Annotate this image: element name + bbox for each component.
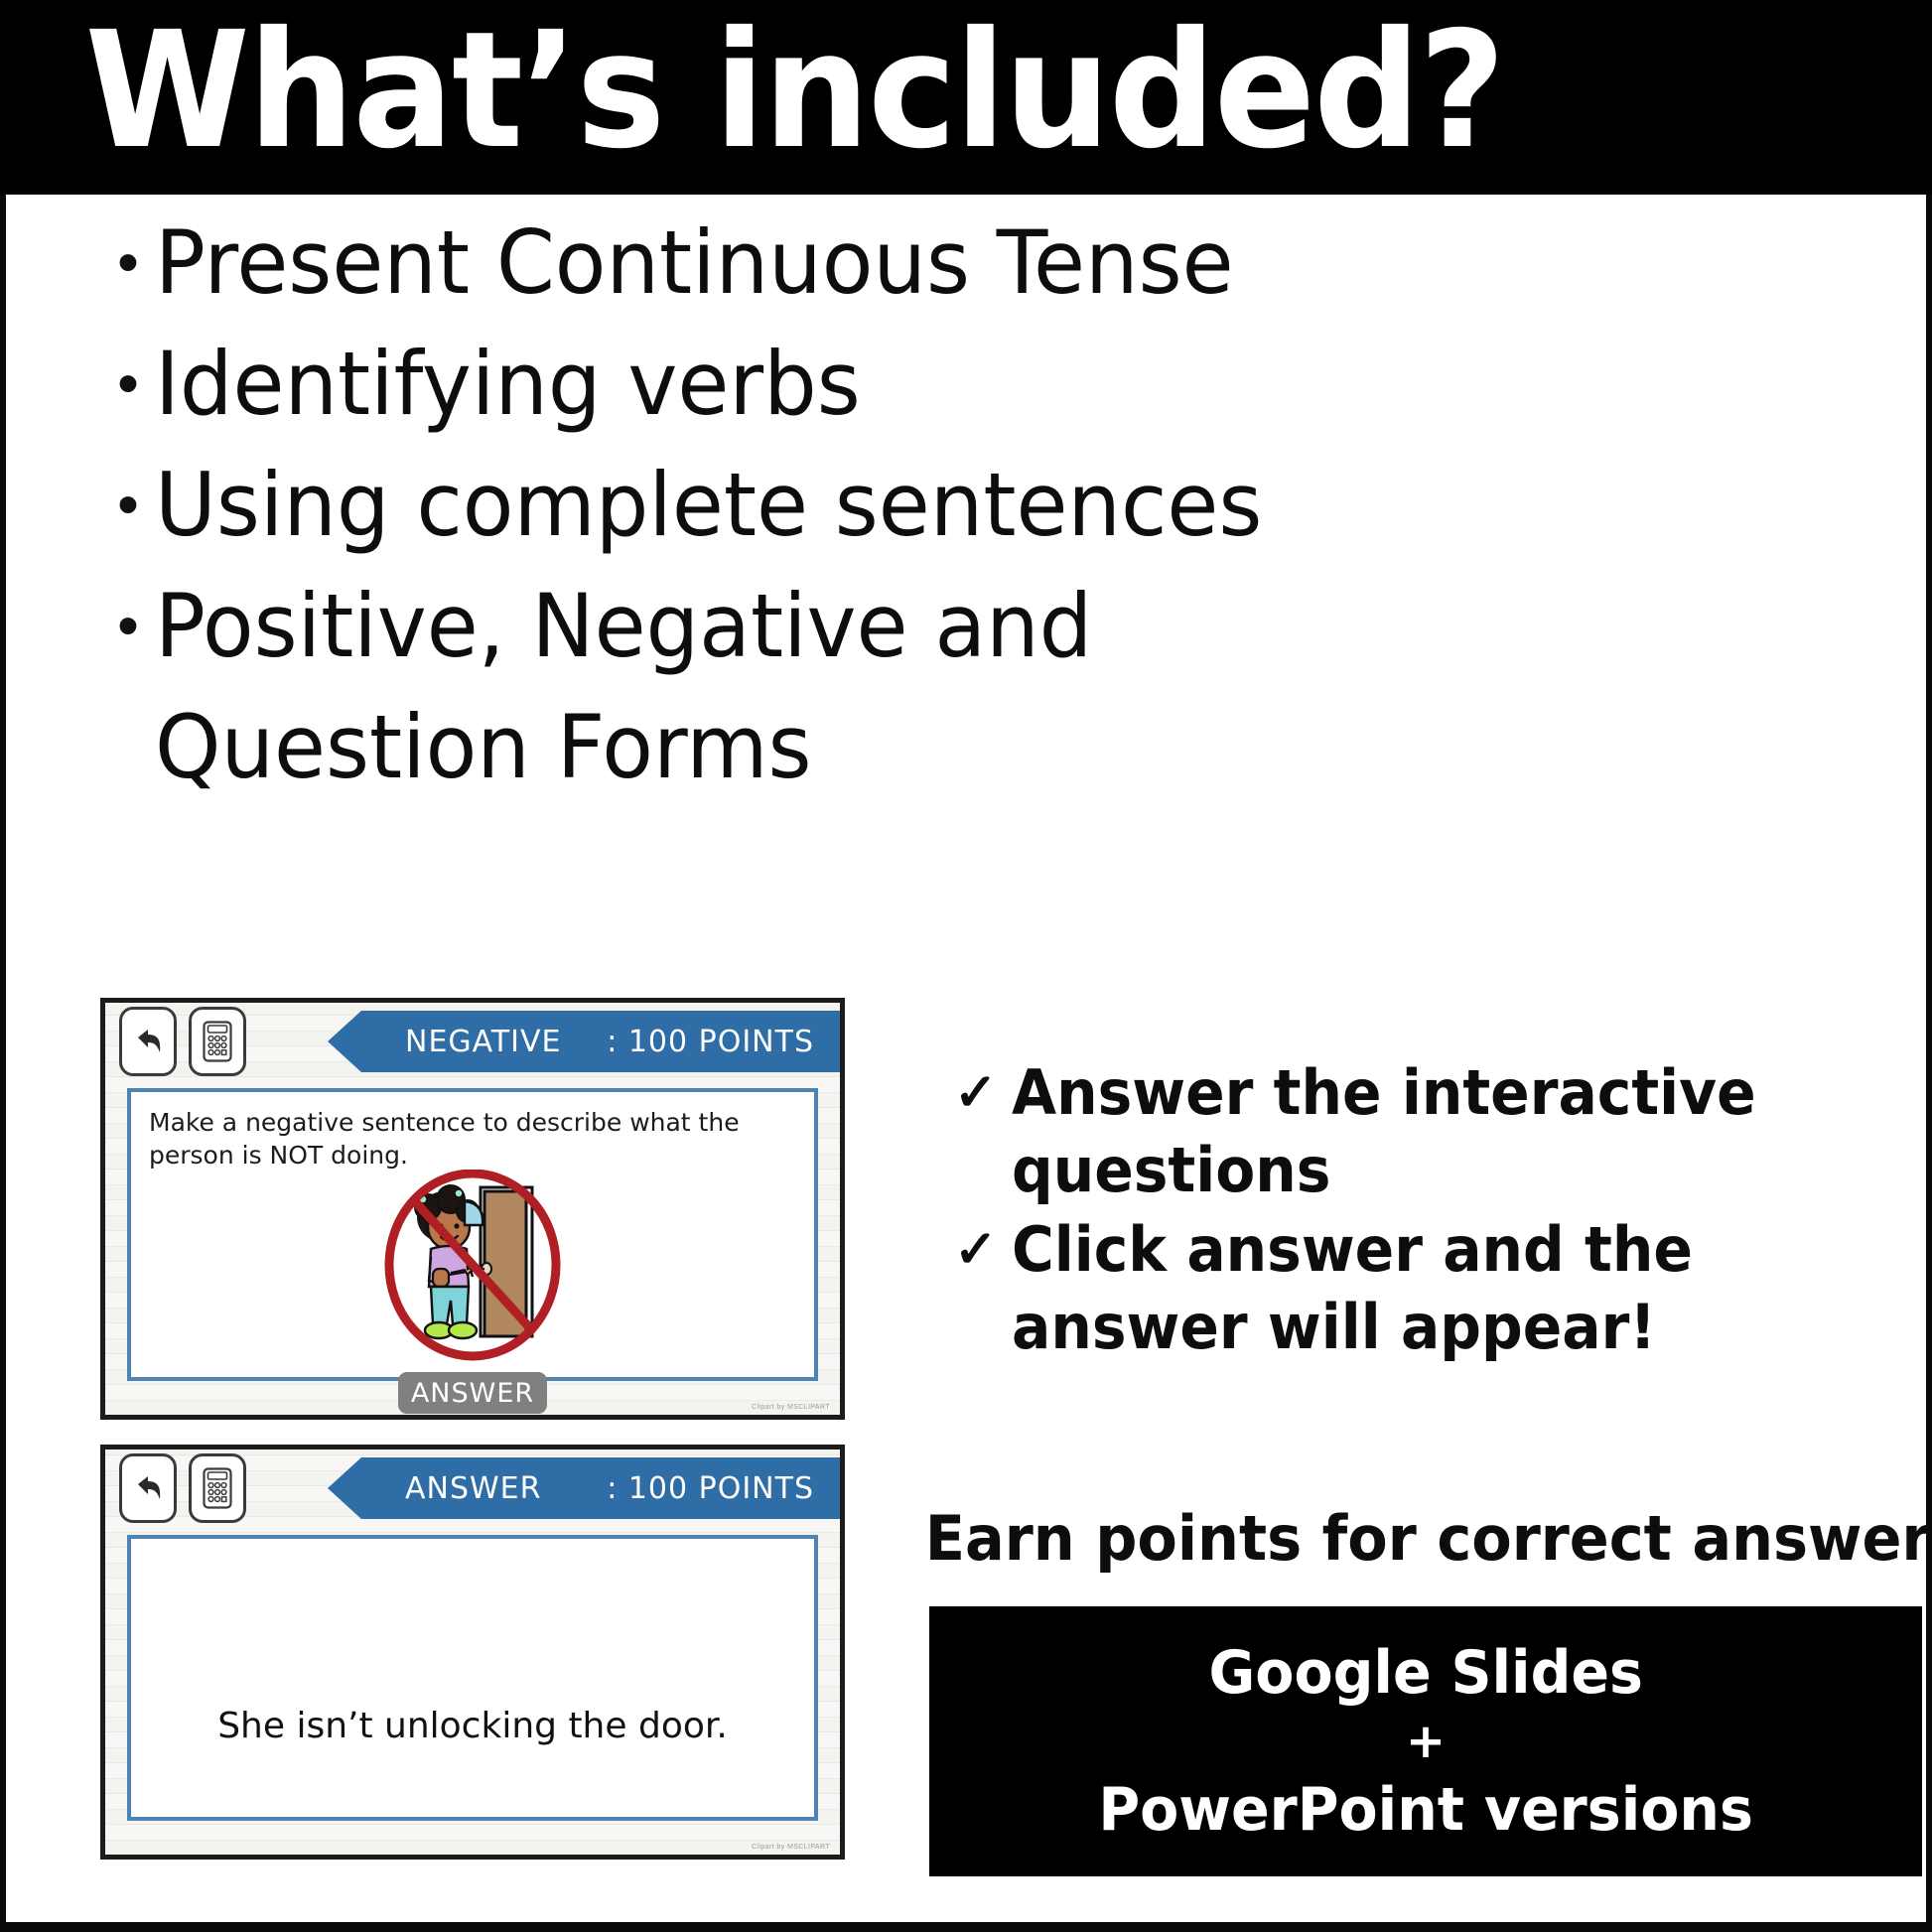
earn-points-text: Earn points for correct answers! xyxy=(925,1502,1897,1575)
bullet-label: Present Continuous Tense xyxy=(155,205,1234,322)
checklist-label: Answer the interactive questions xyxy=(1012,1054,1881,1209)
calculator-icon[interactable] xyxy=(189,1007,246,1076)
calculator-icon[interactable] xyxy=(189,1453,246,1523)
card-toolbar: NEGATIVE : 100 POINTS xyxy=(105,1003,840,1080)
question-prompt: Make a negative sentence to describe wha… xyxy=(131,1092,814,1172)
bullet-label: Identifying verbs xyxy=(155,326,861,443)
powerpoint-label: PowerPoint versions xyxy=(1098,1771,1753,1849)
bullet-dot-icon: • xyxy=(101,568,155,685)
slide-preview-answer[interactable]: ANSWER : 100 POINTS She isn’t unlocking … xyxy=(100,1445,845,1860)
plus-symbol: + xyxy=(1406,1712,1446,1771)
bullet-dot-icon: • xyxy=(101,326,155,443)
list-item: • Using complete sentences xyxy=(101,447,1392,564)
illustration-area: ANSWER xyxy=(131,1170,814,1414)
bullet-dot-icon: • xyxy=(101,447,155,564)
check-icon: ✓ xyxy=(954,1211,1012,1289)
card-banner: NEGATIVE : 100 POINTS xyxy=(361,1011,840,1072)
included-features-list: • Present Continuous Tense • Identifying… xyxy=(101,205,1392,806)
card-credit: Clipart by MSCLIPART xyxy=(752,1844,830,1851)
versions-box: Google Slides + PowerPoint versions xyxy=(929,1606,1922,1876)
checklist-label: Click answer and the answer will appear! xyxy=(1012,1211,1881,1366)
google-slides-label: Google Slides xyxy=(1208,1634,1642,1712)
banner-points: : 100 POINTS xyxy=(607,1025,840,1059)
back-arrow-icon[interactable] xyxy=(119,1453,177,1523)
bullet-label-continuation: Question Forms xyxy=(155,689,1342,806)
banner-label: NEGATIVE xyxy=(361,1025,562,1059)
bullet-label: Using complete sentences xyxy=(155,447,1262,564)
answer-sentence: She isn’t unlocking the door. xyxy=(131,1706,814,1746)
banner-points: : 100 POINTS xyxy=(607,1471,840,1506)
bullet-dot-icon: • xyxy=(101,205,155,322)
card-toolbar: ANSWER : 100 POINTS xyxy=(105,1449,840,1527)
slide-page: What’s included? • Present Continuous Te… xyxy=(0,0,1932,1932)
list-item: ✓ Click answer and the answer will appea… xyxy=(954,1211,1932,1366)
girl-unlocking-door-prohibited-icon xyxy=(373,1170,572,1366)
back-arrow-icon[interactable] xyxy=(119,1007,177,1076)
slide-preview-negative[interactable]: NEGATIVE : 100 POINTS Make a negative se… xyxy=(100,998,845,1420)
page-title: What’s included? xyxy=(0,11,1504,172)
check-icon: ✓ xyxy=(954,1054,1012,1132)
list-item: • Present Continuous Tense xyxy=(101,205,1392,322)
list-item: ✓ Answer the interactive questions xyxy=(954,1054,1932,1209)
list-item: • Positive, Negative and xyxy=(101,568,1392,685)
card-banner: ANSWER : 100 POINTS xyxy=(361,1457,840,1519)
card-credit: Clipart by MSCLIPART xyxy=(752,1404,830,1411)
bullet-label: Positive, Negative and xyxy=(155,568,1092,685)
answer-button[interactable]: ANSWER xyxy=(398,1372,547,1414)
page-header: What’s included? xyxy=(0,0,1932,195)
list-item: • Identifying verbs xyxy=(101,326,1392,443)
banner-label: ANSWER xyxy=(361,1471,541,1506)
instructions-checklist: ✓ Answer the interactive questions ✓ Cli… xyxy=(954,1054,1932,1368)
card-content: She isn’t unlocking the door. xyxy=(127,1535,818,1821)
card-content: Make a negative sentence to describe wha… xyxy=(127,1088,818,1381)
